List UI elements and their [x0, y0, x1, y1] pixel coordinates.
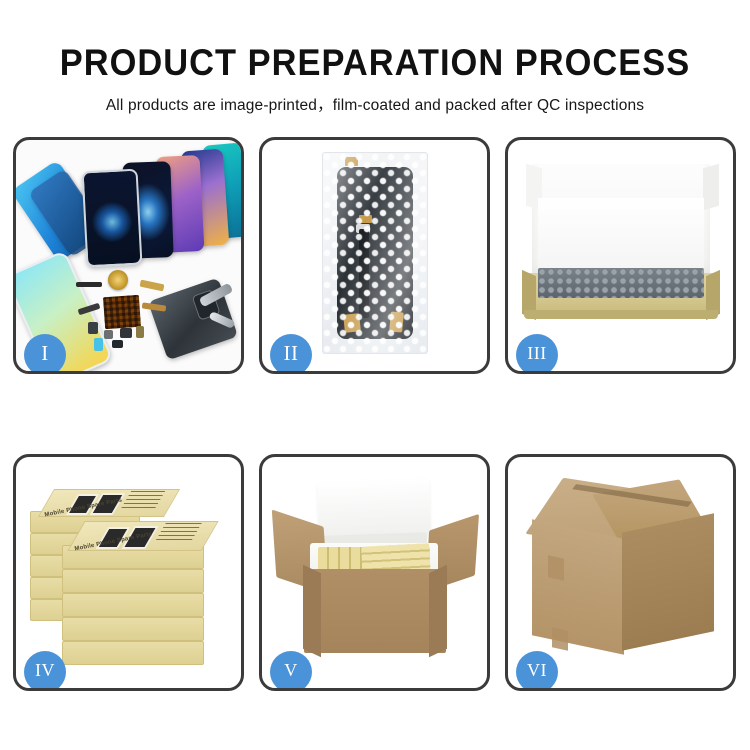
step-badge-3: III — [516, 334, 558, 374]
step-badge-5: V — [270, 651, 312, 691]
chip-board-icon — [103, 295, 141, 329]
box-stack: Mobile Phone Spare Parts Mobile Phone Sp… — [28, 481, 234, 671]
small-part-icon — [94, 338, 103, 351]
process-step-5: V — [259, 454, 490, 691]
process-step-6: VI — [505, 454, 736, 691]
stacked-box — [62, 641, 204, 665]
small-part-icon — [120, 328, 132, 338]
process-step-3: III — [505, 137, 736, 374]
process-step-1: I — [13, 137, 244, 374]
flex-cable-gold-icon — [140, 280, 165, 292]
box-front-edge — [524, 310, 718, 319]
process-step-2: II — [259, 137, 490, 374]
box-lid-right-flap — [703, 164, 719, 211]
step-badge-4: IV — [24, 651, 66, 691]
bubble-wrapped-contents — [538, 268, 704, 298]
plastic-sheen — [323, 153, 427, 353]
carton-tape-upper — [548, 555, 564, 580]
carton-tape-lower — [552, 627, 568, 650]
stacked-box — [62, 593, 204, 617]
small-part-icon — [88, 322, 98, 334]
process-step-4: Mobile Phone Spare Parts Mobile Phone Sp… — [13, 454, 244, 691]
small-part-icon — [104, 330, 113, 339]
carton-side-face — [622, 513, 714, 651]
step-badge-2: II — [270, 334, 312, 374]
page-title: PRODUCT PREPARATION PROCESS — [26, 0, 724, 84]
header: PRODUCT PREPARATION PROCESS All products… — [0, 0, 750, 115]
process-step-grid: I II — [13, 137, 737, 691]
speaker-coil-icon — [108, 270, 128, 290]
carton-front-face — [532, 519, 624, 655]
product-preparation-infographic: PRODUCT PREPARATION PROCESS All products… — [0, 0, 750, 750]
small-part-icon — [136, 326, 144, 338]
carton-body — [304, 569, 446, 653]
bubble-bag — [322, 152, 428, 354]
step-badge-1: I — [24, 334, 66, 374]
stacked-box — [62, 617, 204, 641]
small-part-icon — [112, 340, 123, 348]
glass-protector-icon — [82, 169, 143, 268]
foam-lid-icon — [317, 477, 431, 539]
flex-cable-icon — [76, 282, 102, 287]
foam-sheet-icon — [538, 198, 704, 276]
stacked-box — [62, 569, 204, 593]
step-badge-6: VI — [516, 651, 558, 691]
page-subtitle: All products are image-printed，film-coat… — [0, 84, 750, 115]
